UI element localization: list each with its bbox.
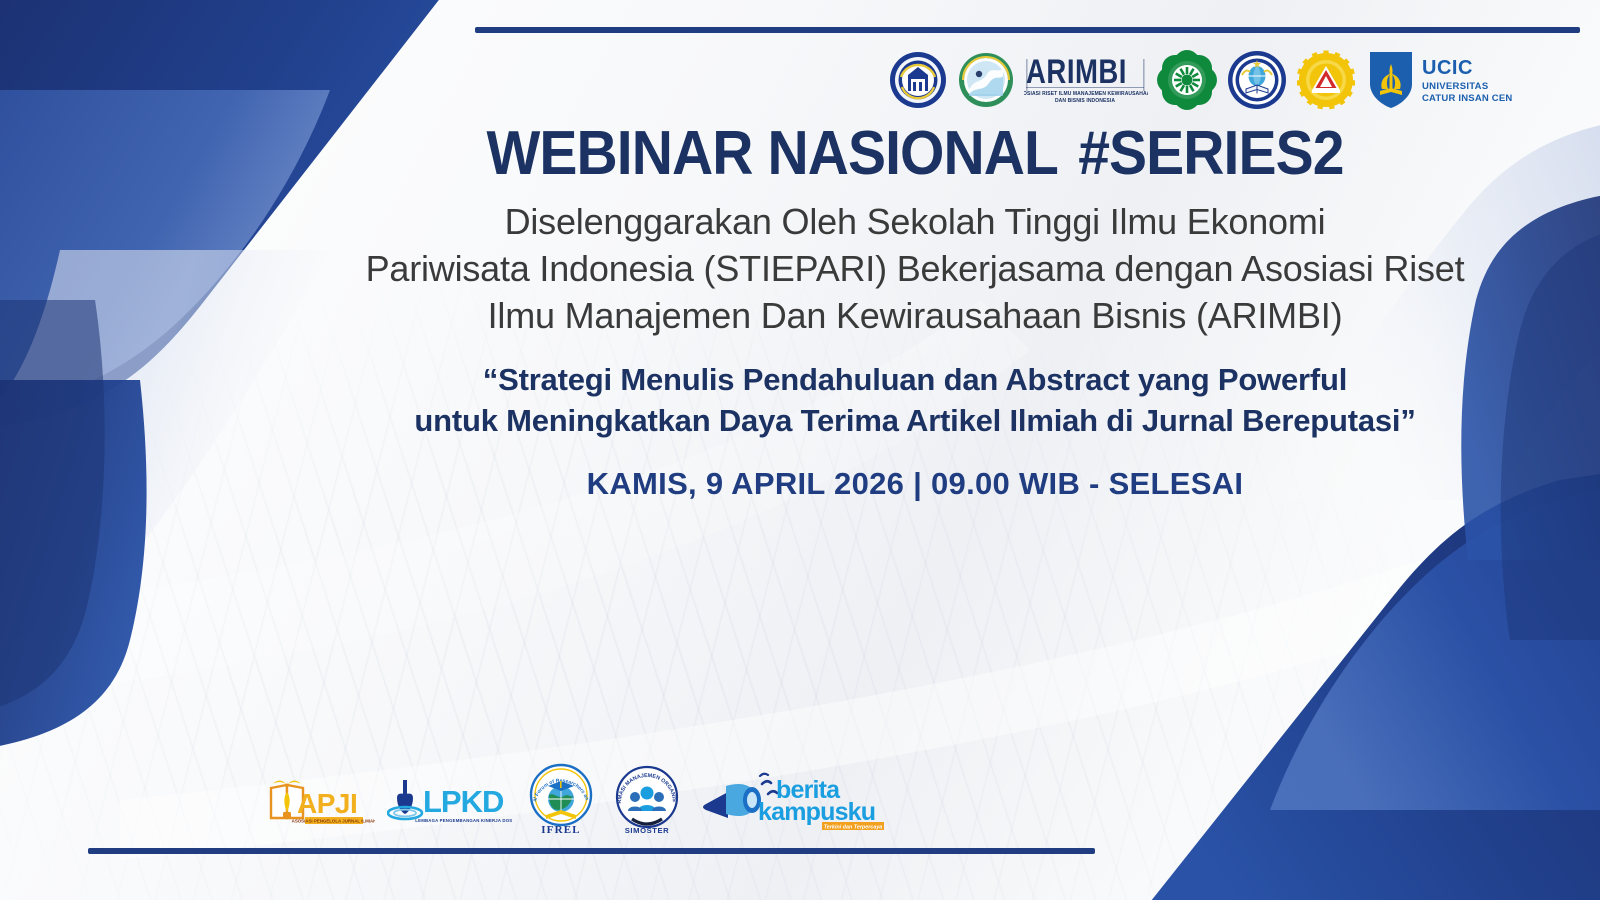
ucic-logo: UCIC UNIVERSITAS CATUR INSAN CENDEKIA (1364, 48, 1512, 112)
svg-text:SIMOSTER: SIMOSTER (625, 826, 669, 835)
stiepari-semarang-logo (888, 49, 948, 111)
sekolah-tinggi-globe-logo (1226, 49, 1288, 111)
svg-text:CATUR INSAN CENDEKIA: CATUR INSAN CENDEKIA (1422, 93, 1512, 104)
svg-text:APJI: APJI (297, 788, 357, 819)
svg-text:LPKD: LPKD (423, 784, 504, 819)
title-series: #SERIES2 (1078, 119, 1343, 188)
lpkd-logo: LPKD LEMBAGA PENGEMBANGAN KINERJA DOSEN (387, 768, 512, 828)
organizer-line-2: Pariwisata Indonesia (STIEPARI) Bekerjas… (300, 246, 1530, 293)
institution-logo-bar: ARIMBI ASOSIASI RISET ILMU MANAJEMEN KEW… (888, 44, 1508, 116)
partner-logo-bar: APJI ASOSIASI PENGELOLA JURNAL ILMIAH LP… (265, 756, 905, 840)
webinar-theme: “Strategi Menulis Pendahuluan dan Abstra… (300, 360, 1530, 442)
theme-line-2: untuk Meningkatkan Daya Terima Artikel I… (300, 401, 1530, 442)
svg-text:LEMBAGA PENGEMBANGAN KINERJA D: LEMBAGA PENGEMBANGAN KINERJA DOSEN (415, 818, 512, 823)
top-divider-rule (475, 27, 1580, 33)
title-main: WEBINAR NASIONAL (486, 119, 1058, 188)
svg-text:DAN BISNIS INDONESIA: DAN BISNIS INDONESIA (1055, 98, 1115, 104)
arimbi-wordmark-logo: ARIMBI ASOSIASI RISET ILMU MANAJEMEN KEW… (1024, 51, 1148, 109)
svg-text:UNIVERSITAS: UNIVERSITAS (1422, 81, 1488, 92)
simoster-logo: SISTEM INFORMASI MANAJEMEN ORGANISASI TE… (610, 759, 684, 837)
event-datetime: KAMIS, 9 APRIL 2026 | 09.00 WIB - SELESA… (300, 466, 1530, 502)
svg-text:UCIC: UCIC (1422, 57, 1473, 79)
apji-logo: APJI ASOSIASI PENGELOLA JURNAL ILMIAH (265, 768, 375, 828)
svg-text:IFREL: IFREL (541, 824, 581, 836)
organizer-line-3: Ilmu Manajemen Dan Kewirausahaan Bisnis … (300, 293, 1530, 340)
universitas-muhammadiyah-logo (1157, 49, 1217, 111)
svg-text:kampusku: kampusku (758, 798, 875, 826)
universitas-dharma-persada-logo (1297, 50, 1355, 110)
berita-kampusku-logo: berita kampusku Terkini dan Terpercaya (696, 762, 886, 834)
svg-text:ASOSIASI RISET ILMU MANAJEMEN: ASOSIASI RISET ILMU MANAJEMEN KEWIRAUSAH… (1024, 91, 1148, 97)
theme-line-1: “Strategi Menulis Pendahuluan dan Abstra… (300, 360, 1530, 401)
ifrel-logo: International Forum of Researchers and L… (524, 759, 598, 837)
organizer-line-1: Diselenggarakan Oleh Sekolah Tinggi Ilmu… (300, 199, 1530, 246)
bottom-divider-rule (88, 848, 1095, 854)
webinar-poster: ARIMBI ASOSIASI RISET ILMU MANAJEMEN KEW… (0, 0, 1600, 900)
poster-text-block: WEBINAR NASIONAL#SERIES2 Diselenggarakan… (300, 122, 1530, 502)
svg-text:ARIMBI: ARIMBI (1026, 52, 1127, 91)
organizer-text: Diselenggarakan Oleh Sekolah Tinggi Ilmu… (300, 199, 1530, 339)
page-title: WEBINAR NASIONAL#SERIES2 (349, 122, 1481, 185)
svg-text:ASOSIASI PENGELOLA JURNAL ILMI: ASOSIASI PENGELOLA JURNAL ILMIAH (292, 819, 375, 824)
svg-text:Terkini dan Terpercaya: Terkini dan Terpercaya (824, 825, 883, 831)
arimbi-seal-logo (957, 50, 1015, 110)
